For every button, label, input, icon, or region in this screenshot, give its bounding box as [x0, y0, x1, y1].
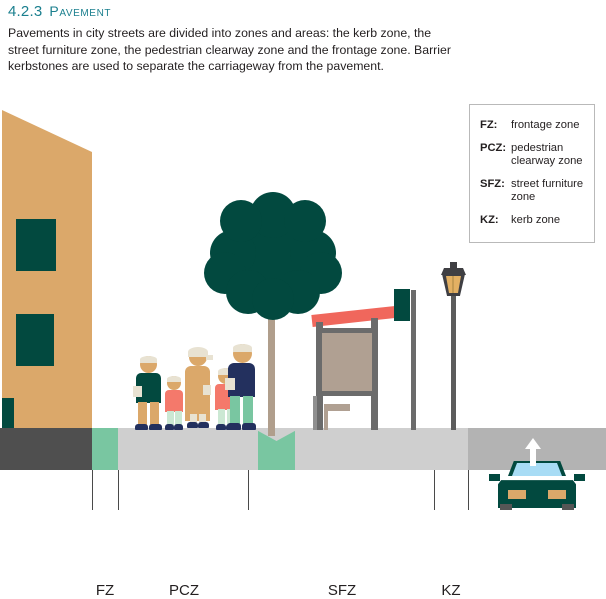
tree-trunk: [268, 310, 275, 436]
sign-pole: [411, 290, 416, 430]
car-mirror-left: [489, 474, 500, 481]
bus-shelter-rail: [313, 396, 317, 430]
pedestrian-adult-tan-dress: [183, 348, 213, 430]
arrow-stem: [530, 447, 536, 466]
section-number: 4.2.3: [8, 3, 42, 20]
car-tyre-left: [500, 504, 512, 510]
pedestrian-adult-dark-green-top: [133, 356, 163, 430]
car-headlight-right: [548, 490, 566, 499]
page-title: 4.2.3Pavement: [8, 3, 111, 20]
street-cross-section-illustration: FZ PCZ SFZ KZ: [0, 90, 606, 522]
bus-shelter-advert-panel: [322, 333, 372, 391]
building-window-lower: [16, 314, 54, 366]
planting-strip-frontage: [92, 428, 118, 470]
zone-tick-3: [248, 470, 249, 510]
car-headlight-left: [508, 490, 526, 499]
zone-label-sfz: SFZ: [308, 582, 376, 599]
zone-label-kz: KZ: [428, 582, 474, 599]
street-lamp-pole: [451, 275, 456, 430]
tree-canopy: [200, 190, 346, 320]
pedestrian-child-salmon-top: [163, 376, 185, 430]
section-title: Pavement: [49, 3, 111, 19]
building-door: [2, 398, 14, 428]
car-mirror-right: [574, 474, 585, 481]
zone-tick-4: [434, 470, 435, 510]
road-direction-arrow-icon: [525, 438, 541, 466]
zone-label-pcz: PCZ: [150, 582, 218, 599]
zone-tick-2: [118, 470, 119, 510]
pavement-figure-page: 4.2.3Pavement Pavements in city streets …: [0, 0, 606, 522]
body-paragraph: Pavements in city streets are divided in…: [8, 25, 460, 75]
sign-plate: [394, 289, 410, 321]
street-lamp-hood: [441, 268, 466, 275]
street-lamp-glazing-bar: [452, 276, 454, 293]
zone-label-fz: FZ: [82, 582, 128, 599]
building-base: [0, 428, 92, 470]
bus-shelter-bench: [324, 404, 350, 411]
car-tyre-right: [562, 504, 574, 510]
building-window-upper: [16, 219, 56, 271]
zone-tick-1: [92, 470, 93, 510]
zone-tick-5: [468, 470, 469, 510]
pedestrian-adult-navy-top: [225, 344, 257, 430]
